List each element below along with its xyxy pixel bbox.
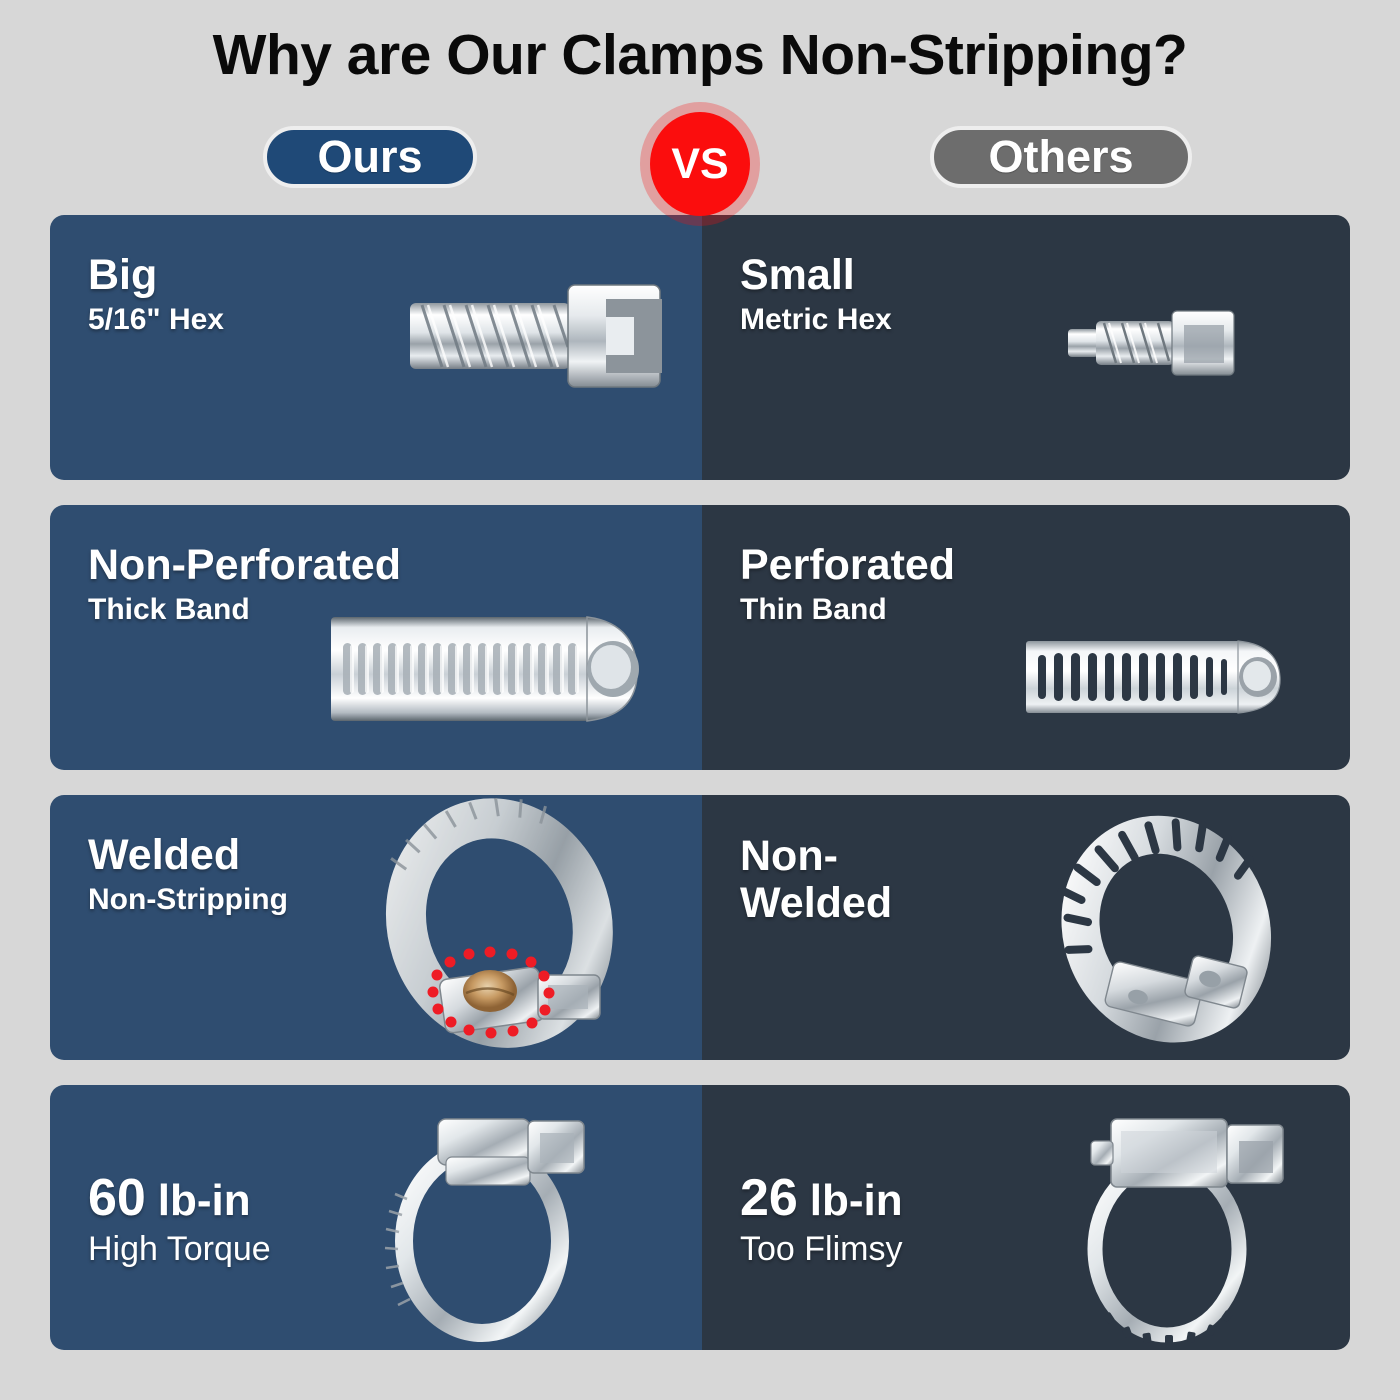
ours-torque-unit: lb-in	[158, 1176, 251, 1225]
clamp-ring-weak-icon	[1047, 1097, 1317, 1347]
others-torque-subline: Too Flimsy	[740, 1232, 903, 1268]
ours-cell-torque: 60 lb-in High Torque	[50, 1085, 702, 1350]
others-hex-subline: Metric Hex	[740, 304, 892, 336]
ours-hex-text: Big 5/16" Hex	[88, 253, 224, 336]
others-badge: Others	[930, 126, 1192, 188]
screw-large-icon	[400, 277, 680, 397]
comparison-row-hex-size: Big 5/16" Hex	[50, 215, 1350, 480]
ours-cell-hex-size: Big 5/16" Hex	[50, 215, 702, 480]
others-weld-text: Non- Welded	[740, 833, 892, 928]
ours-badge: Ours	[263, 126, 477, 188]
comparison-grid: Big 5/16" Hex	[50, 215, 1350, 1350]
ours-band-subline: Thick Band	[88, 594, 401, 626]
comparison-row-band-type: Non-Perforated Thick Band	[50, 505, 1350, 770]
others-torque-number: 26	[740, 1169, 798, 1227]
others-torque-headline: 26 lb-in	[740, 1171, 903, 1226]
comparison-badge-row: Ours VS Others	[0, 126, 1400, 204]
ours-cell-band-type: Non-Perforated Thick Band	[50, 505, 702, 770]
others-band-headline: Perforated	[740, 543, 955, 588]
ours-band-text: Non-Perforated Thick Band	[88, 543, 401, 626]
others-weld-headline: Non- Welded	[740, 833, 892, 928]
band-slotted-icon	[1022, 623, 1322, 733]
others-cell-torque: 26 lb-in Too Flimsy	[702, 1085, 1350, 1350]
ours-hex-headline: Big	[88, 253, 224, 298]
ours-torque-number: 60	[88, 1169, 146, 1227]
comparison-row-weld: Welded Non-Stripping	[50, 795, 1350, 1060]
page-title: Why are Our Clamps Non-Stripping?	[0, 22, 1400, 88]
others-torque-unit: lb-in	[810, 1176, 903, 1225]
comparison-row-torque: 60 lb-in High Torque	[50, 1085, 1350, 1350]
others-cell-weld: Non- Welded	[702, 795, 1350, 1060]
ours-weld-headline: Welded	[88, 833, 288, 878]
ours-weld-subline: Non-Stripping	[88, 884, 288, 916]
others-hex-text: Small Metric Hex	[740, 253, 892, 336]
ours-cell-weld: Welded Non-Stripping	[50, 795, 702, 1060]
others-band-subline: Thin Band	[740, 594, 955, 626]
ours-band-headline: Non-Perforated	[88, 543, 401, 588]
clamp-ring-strong-icon	[350, 1091, 630, 1346]
others-band-text: Perforated Thin Band	[740, 543, 955, 626]
ours-torque-subline: High Torque	[88, 1232, 271, 1268]
others-torque-text: 26 lb-in Too Flimsy	[740, 1171, 903, 1267]
clamp-nonwelded-icon	[1032, 821, 1302, 1051]
ours-torque-headline: 60 lb-in	[88, 1171, 271, 1226]
screw-small-icon	[1064, 303, 1249, 383]
ours-weld-text: Welded Non-Stripping	[88, 833, 288, 916]
ours-torque-text: 60 lb-in High Torque	[88, 1171, 271, 1267]
ours-hex-subline: 5/16" Hex	[88, 304, 224, 336]
others-cell-hex-size: Small Metric Hex	[702, 215, 1350, 480]
others-hex-headline: Small	[740, 253, 892, 298]
clamp-welded-icon	[350, 805, 650, 1055]
vs-badge: VS	[650, 112, 750, 216]
others-cell-band-type: Perforated Thin Band	[702, 505, 1350, 770]
